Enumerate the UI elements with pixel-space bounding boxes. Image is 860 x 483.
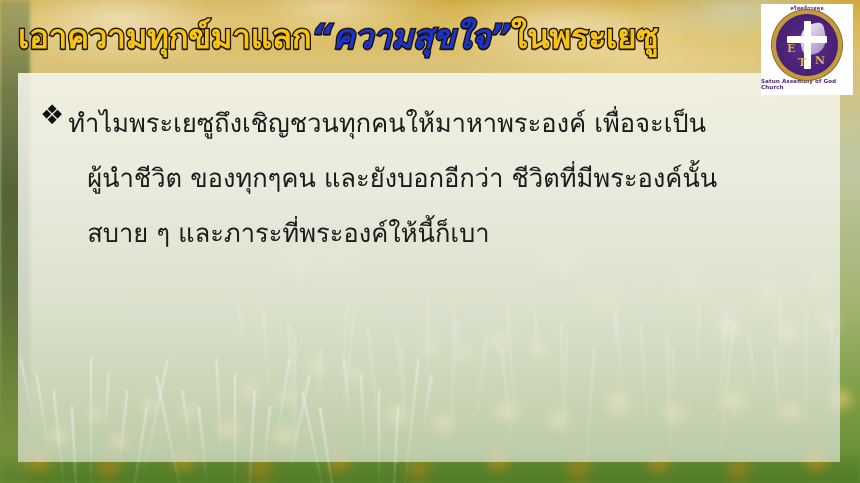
title-quote-open: “ xyxy=(312,17,333,56)
slide-header: เอาความทุกข์มาแลก“ความสุขใจ”ในพระเยซู xyxy=(0,0,860,72)
title-quote-close: ” xyxy=(490,17,511,56)
diamond-bullet-icon: ❖ xyxy=(40,97,64,135)
logo-letter-n: N xyxy=(815,54,825,67)
logo-letter-t: T xyxy=(798,56,806,69)
logo-letter-e: E xyxy=(787,42,795,55)
body-text: ทำไมพระเยซูถึงเชิญชวนทุกคนให้มาหาพระองค์… xyxy=(68,97,818,262)
body-line-3: สบาย ๆ และภาระที่พระองค์ให้นี้ก็เบา xyxy=(68,207,818,262)
slide-canvas: เอาความทุกข์มาแลก“ความสุขใจ”ในพระเยซู คร… xyxy=(0,0,860,483)
title-part-1: เอาความทุกข์มาแลก xyxy=(18,17,312,56)
logo-thai-text: คริสตจักรสตูล xyxy=(790,7,823,12)
title-highlight: ความสุขใจ xyxy=(333,17,490,56)
bullet-block: ❖ ทำไมพระเยซูถึงเชิญชวนทุกคนให้มาหาพระอง… xyxy=(40,97,818,262)
church-logo: คริสตจักรสตูล E T N Satun Assembly of Go… xyxy=(761,4,853,95)
logo-english-text: Satun Assembly of God Church xyxy=(761,79,853,91)
body-line-1: ทำไมพระเยซูถึงเชิญชวนทุกคนให้มาหาพระองค์… xyxy=(68,97,818,152)
body-line-2: ผู้นำชีวิต ของทุกๆคน และยังบอกอีกว่า ชีว… xyxy=(68,152,818,207)
title-part-2: ในพระเยซู xyxy=(511,17,658,56)
logo-emblem: E T N xyxy=(776,14,838,76)
page-title: เอาความทุกข์มาแลก“ความสุขใจ”ในพระเยซู xyxy=(18,20,658,53)
content-panel: ❖ ทำไมพระเยซูถึงเชิญชวนทุกคนให้มาหาพระอง… xyxy=(18,73,840,462)
